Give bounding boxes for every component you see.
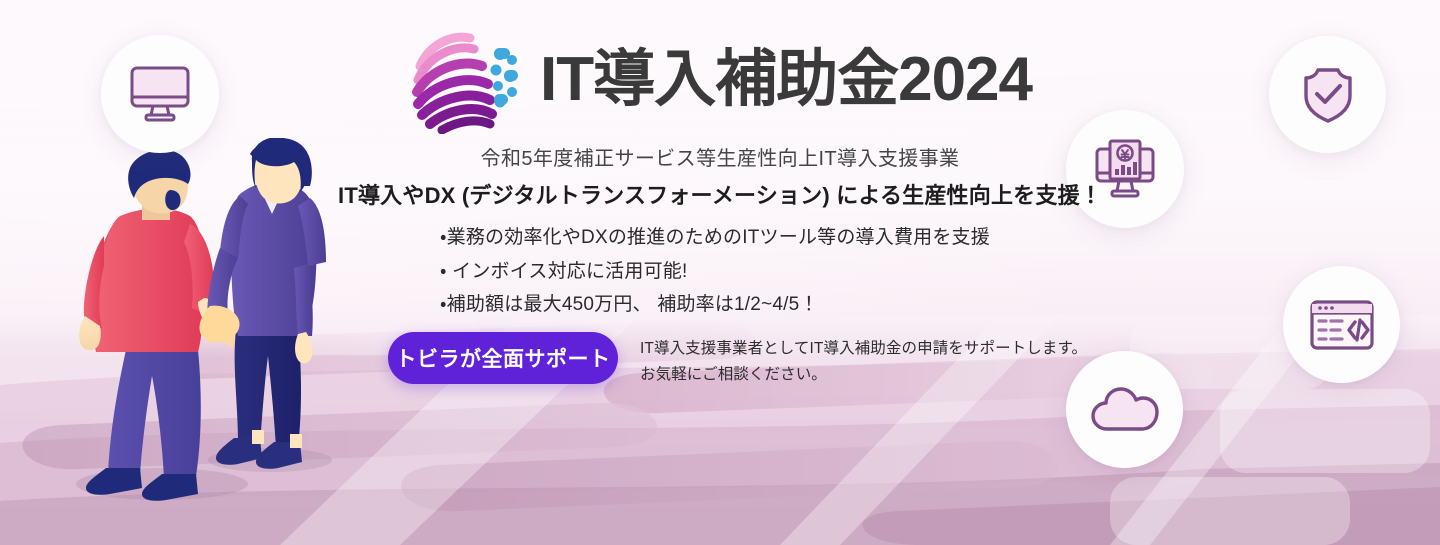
- cta-note: IT導入支援事業者としてIT導入補助金の申請をサポートします。 お気軽にご相談く…: [640, 332, 1087, 387]
- benefit-list: ・業務の効率化やDXの推進のためのITツール等の導入費用を支援 ・ インボイス対…: [0, 224, 1440, 319]
- program-subtitle: 令和5年度補正サービス等生産性向上IT導入支援事業: [0, 142, 1440, 171]
- it-subsidy-banner: IT導入補助金2024 令和5年度補正サービス等生産性向上IT導入支援事業 IT…: [0, 0, 1440, 545]
- banner-content: IT導入補助金2024 令和5年度補正サービス等生産性向上IT導入支援事業 IT…: [0, 0, 1440, 545]
- cta-note-line-2: お気軽にご相談ください。: [640, 362, 1087, 388]
- full-support-button[interactable]: トビラが全面サポート: [388, 332, 618, 384]
- page-title: IT導入補助金2024: [540, 49, 1032, 115]
- cta-note-line-1: IT導入支援事業者としてIT導入補助金の申請をサポートします。: [640, 336, 1087, 362]
- list-item: ・補助額は最大450万円、 補助率は1/2~4/5！: [440, 291, 1000, 319]
- cta-group: トビラが全面サポート IT導入支援事業者としてIT導入補助金の申請をサポートしま…: [388, 332, 1087, 387]
- list-item: ・業務の効率化やDXの推進のためのITツール等の導入費用を支援: [440, 224, 1000, 252]
- brand-lockup: IT導入補助金2024: [0, 30, 1440, 134]
- it-subsidy-swoosh-logo-icon: [408, 30, 524, 134]
- list-item: ・ インボイス対応に活用可能!: [440, 258, 1000, 286]
- headline: IT導入やDX (デジタルトランスフォーメーション) による生産性向上を支援！: [0, 178, 1440, 210]
